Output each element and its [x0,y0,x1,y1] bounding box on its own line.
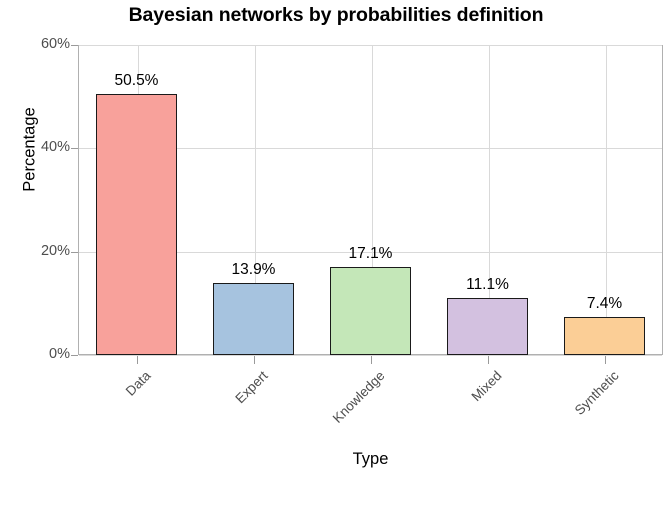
x-axis-tick [371,356,372,364]
bar[interactable] [96,94,177,355]
x-axis-title: Type [78,450,663,469]
gridline-horizontal [79,45,662,46]
bar-value-label: 50.5% [77,72,197,90]
y-axis-tick [71,45,78,46]
x-axis-tick [488,356,489,364]
bar[interactable] [447,298,528,355]
bar[interactable] [330,267,411,355]
bar[interactable] [213,283,294,355]
y-axis-tick-label: 0% [49,346,70,362]
x-axis-tick [254,356,255,364]
bar-value-label: 7.4% [545,295,665,313]
y-axis-tick [71,252,78,253]
chart-root: Bayesian networks by probabilities defin… [0,0,672,480]
y-axis-tick-label: 60% [41,36,70,52]
bar-value-label: 17.1% [311,245,431,263]
chart-title: Bayesian networks by probabilities defin… [0,4,672,27]
x-axis-tick [605,356,606,364]
y-axis-tick [71,148,78,149]
y-axis-tick-label: 40% [41,139,70,155]
y-axis-title: Percentage [21,30,40,270]
x-axis-tick [137,356,138,364]
bar-value-label: 11.1% [428,276,548,294]
bar[interactable] [564,317,645,355]
y-axis-tick [71,355,78,356]
y-axis-tick-label: 20% [41,243,70,259]
bar-value-label: 13.9% [194,261,314,279]
